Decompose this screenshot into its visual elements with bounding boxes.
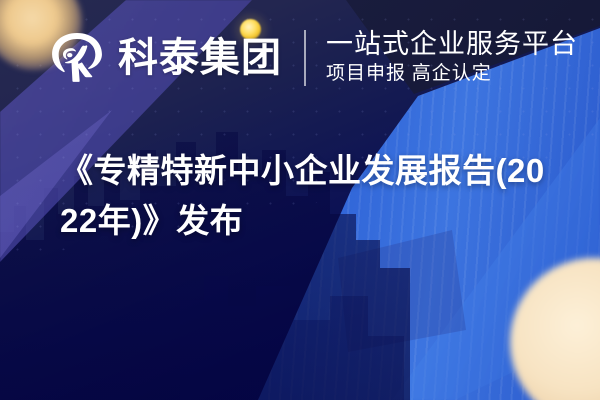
ketai-circle-r-logo-icon[interactable] (48, 29, 106, 87)
page-title: 《专精特新中小企业发展报告(2022年)》发布 (60, 146, 560, 246)
vertical-divider (304, 30, 306, 86)
tagline-main: 一站式企业服务平台 (326, 29, 578, 59)
tagline-sub: 项目申报 高企认定 (326, 62, 578, 87)
brand-header: 科泰集团 一站式企业服务平台 项目申报 高企认定 (48, 22, 578, 94)
brand-name: 科泰集团 (118, 38, 282, 78)
promo-banner: 科泰集团 一站式企业服务平台 项目申报 高企认定 《专精特新中小企业发展报告(2… (0, 0, 600, 400)
tagline-group: 一站式企业服务平台 项目申报 高企认定 (326, 29, 578, 87)
